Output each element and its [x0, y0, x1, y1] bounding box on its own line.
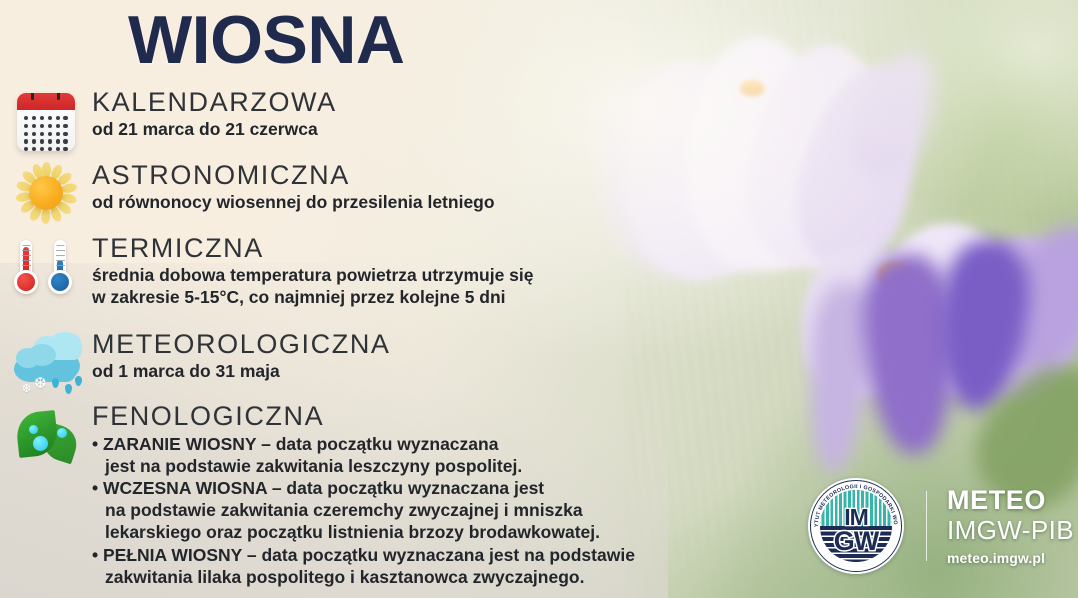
section-heading: KALENDARZOWA: [92, 88, 560, 117]
brand-lockup[interactable]: INSTYTUT METEOROLOGII I GOSPODARKI WODNE…: [808, 478, 1074, 574]
brand-subtitle: IMGW-PIB: [947, 516, 1074, 545]
section-body-line: od 21 marca do 21 czerwca: [92, 118, 560, 140]
sun-disc: [29, 176, 63, 210]
section-icon-cell: [0, 402, 92, 470]
snowflake-icon: ❆: [22, 384, 31, 395]
list-item: • ZARANIE WIOSNY – data początku wyznacz…: [92, 433, 740, 455]
snowflake-icon: ❆: [34, 376, 47, 391]
calendar-day-grid: [17, 110, 75, 151]
thermometer-blue-icon: [47, 240, 73, 300]
imgw-logo-icon[interactable]: INSTYTUT METEOROLOGII I GOSPODARKI WODNE…: [808, 478, 904, 574]
section-body-line: w zakresie 5-15°C, co najmniej przez kol…: [92, 286, 620, 308]
section-kalendarzowa: KALENDARZOWA od 21 marca do 21 czerwca: [0, 88, 560, 151]
section-meteorologiczna: ❆ ❆ METEOROLOGICZNA od 1 marca do 31 maj…: [0, 330, 560, 396]
section-icon-cell: [0, 234, 92, 300]
logo-inner-disc: IM GW: [820, 490, 892, 562]
section-heading: METEOROLOGICZNA: [92, 330, 560, 359]
calendar-icon: [17, 93, 75, 151]
sun-icon: [14, 161, 78, 225]
section-text-cell: TERMICZNA średnia dobowa temperatura pow…: [92, 234, 620, 308]
brand-divider: [926, 491, 927, 561]
logo-mark-gw: GW: [820, 526, 892, 557]
calendar-header: [17, 93, 75, 110]
section-heading: ASTRONOMICZNA: [92, 161, 600, 190]
section-icon-cell: [0, 161, 92, 225]
calendar-ring-left: [31, 93, 34, 100]
list-item: • WCZESNA WIOSNA – data początku wyznacz…: [92, 477, 740, 499]
brand-url[interactable]: meteo.imgw.pl: [947, 550, 1074, 566]
list-item: na podstawie zakwitania czeremchy zwycza…: [92, 499, 740, 521]
raindrop-icon: [75, 376, 82, 386]
list-item: zakwitania lilaka pospolitego i kasztano…: [92, 566, 740, 588]
list-item: • PEŁNIA WIOSNY – data początku wyznacza…: [92, 544, 740, 566]
raindrop-icon: [52, 378, 59, 388]
dew-drop: [33, 436, 48, 451]
section-icon-cell: [0, 88, 92, 151]
section-body-line: od 1 marca do 31 maja: [92, 360, 560, 382]
poster-content: WIOSNA: [0, 0, 1078, 598]
section-text-cell: METEOROLOGICZNA od 1 marca do 31 maja: [92, 330, 560, 382]
thermometer-red-icon: [13, 240, 39, 300]
dew-drop: [29, 425, 38, 434]
section-astronomiczna: ASTRONOMICZNA od równonocy wiosennej do …: [0, 161, 600, 225]
rain-cloud-icon: ❆ ❆: [8, 332, 84, 396]
calendar-ring-right: [57, 93, 60, 100]
thermometers-icon: [11, 240, 81, 300]
page-title: WIOSNA: [128, 6, 405, 74]
section-fenologiczna: FENOLOGICZNA • ZARANIE WIOSNY – data poc…: [0, 402, 740, 588]
section-icon-cell: ❆ ❆: [0, 330, 92, 396]
section-text-cell: ASTRONOMICZNA od równonocy wiosennej do …: [92, 161, 600, 213]
list-item: lekarskiego oraz początku listnienia brz…: [92, 521, 740, 543]
brand-text-block: METEO IMGW-PIB meteo.imgw.pl: [947, 486, 1074, 565]
raindrop-icon: [65, 384, 72, 394]
section-body-line: od równonocy wiosennej do przesilenia le…: [92, 191, 600, 213]
section-body-line: średnia dobowa temperatura powietrza utr…: [92, 264, 620, 286]
section-text-cell: FENOLOGICZNA • ZARANIE WIOSNY – data poc…: [92, 402, 740, 588]
section-heading: FENOLOGICZNA: [92, 402, 740, 431]
section-text-cell: KALENDARZOWA od 21 marca do 21 czerwca: [92, 88, 560, 140]
leaves-dew-icon: [13, 408, 79, 470]
section-heading: TERMICZNA: [92, 234, 620, 263]
brand-name: METEO: [947, 486, 1074, 515]
spring-infographic-poster: WIOSNA: [0, 0, 1078, 598]
list-item: jest na podstawie zakwitania leszczyny p…: [92, 455, 740, 477]
dew-drop: [57, 428, 67, 438]
section-termiczna: TERMICZNA średnia dobowa temperatura pow…: [0, 234, 620, 308]
bullet-list: • ZARANIE WIOSNY – data początku wyznacz…: [92, 433, 740, 589]
